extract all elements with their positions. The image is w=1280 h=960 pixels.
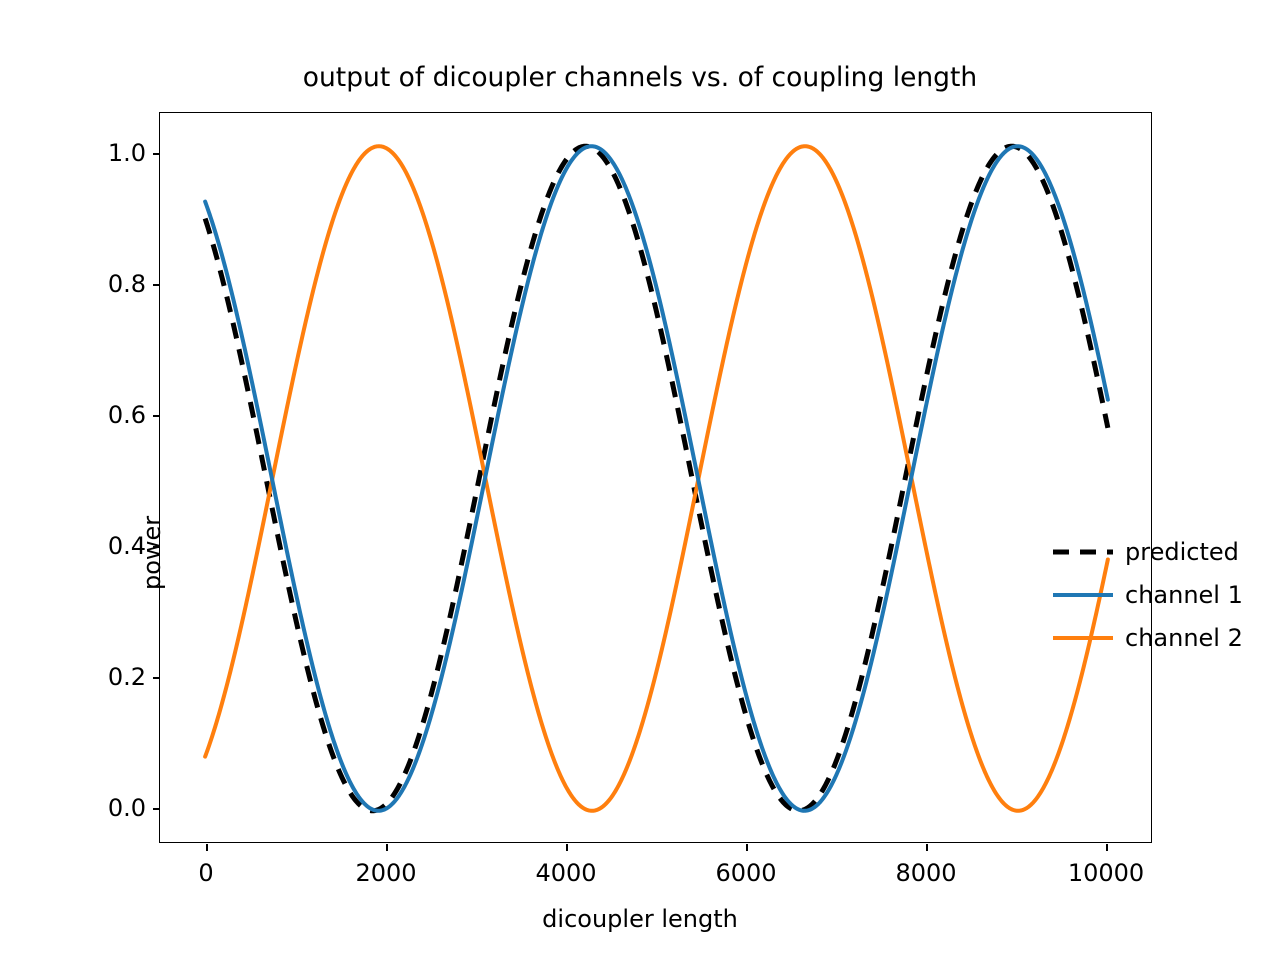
plot-lines [160,113,1153,844]
legend-label-channel-1: channel 1 [1125,581,1243,609]
legend-item-predicted: predicted [1053,530,1280,573]
ytick-label-1: 0.2 [88,663,146,691]
legend-item-channel-2: channel 2 [1053,616,1280,659]
ytick-label-0: 0.0 [88,794,146,822]
ytick-mark [153,415,160,417]
legend-item-channel-1: channel 1 [1053,573,1280,616]
xtick-mark [566,844,568,851]
x-axis-label: dicoupler length [0,905,1280,933]
chart-title: output of dicoupler channels vs. of coup… [0,62,1280,93]
xtick-label-2: 4000 [535,859,596,887]
line-channel-2 [205,146,1108,811]
legend-swatch-predicted [1053,543,1113,561]
xtick-mark [206,844,208,851]
xtick-mark [746,844,748,851]
ytick-mark [153,677,160,679]
figure-canvas: output of dicoupler channels vs. of coup… [0,0,1280,960]
legend-swatch-channel-2 [1053,629,1113,647]
xtick-label-3: 6000 [715,859,776,887]
legend-swatch-channel-1 [1053,586,1113,604]
xtick-label-4: 8000 [895,859,956,887]
xtick-label-5: 10000 [1068,859,1144,887]
xtick-mark [1106,844,1108,851]
legend-label-channel-2: channel 2 [1125,624,1243,652]
plot-area: 0.0 0.2 0.4 0.6 0.8 1.0 0 2000 4000 6000… [159,112,1152,843]
ytick-mark [153,284,160,286]
line-channel-1 [205,146,1108,811]
ytick-label-4: 0.8 [88,270,146,298]
xtick-mark [386,844,388,851]
ytick-mark [153,808,160,810]
y-axis-label: power [138,516,166,590]
ytick-label-5: 1.0 [88,139,146,167]
xtick-label-0: 0 [198,859,213,887]
ytick-mark [153,153,160,155]
xtick-mark [926,844,928,851]
ytick-label-3: 0.6 [88,401,146,429]
line-predicted [205,146,1108,811]
xtick-label-1: 2000 [355,859,416,887]
chart-legend: predicted channel 1 channel 2 [1053,530,1280,659]
legend-label-predicted: predicted [1125,538,1239,566]
